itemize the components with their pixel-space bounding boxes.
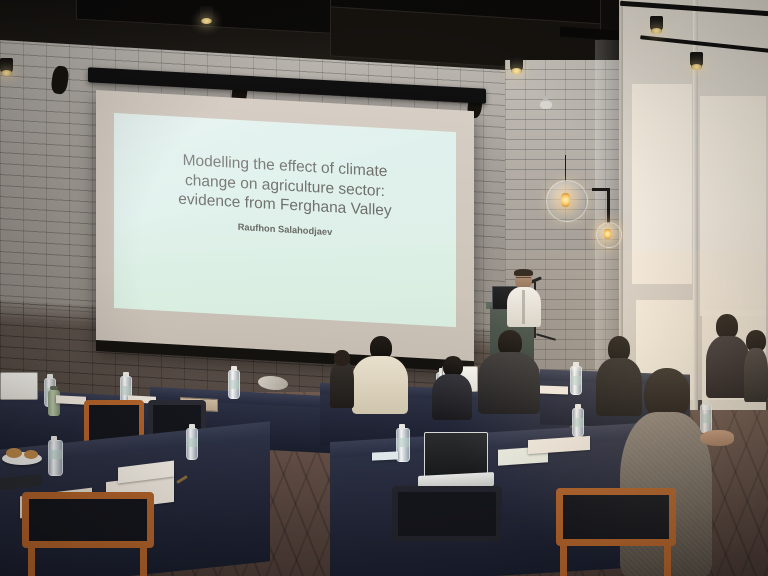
light-bulb-icon	[604, 229, 611, 239]
slide-author: Raufhon Salahodjaev	[238, 221, 333, 236]
attendee-dark-suit-front	[432, 356, 472, 418]
presenter-at-podium	[506, 270, 542, 324]
attendee-right-edge	[744, 330, 768, 400]
attendee-partial-left	[330, 352, 354, 408]
ceiling-spotlight-icon	[510, 56, 523, 71]
water-bottle	[228, 370, 240, 399]
water-bottle	[572, 408, 584, 437]
water-bottle	[186, 428, 198, 460]
ceiling-spotlight-icon	[650, 16, 663, 31]
chair[interactable]	[556, 488, 676, 576]
laptop-screen	[0, 372, 38, 400]
chair[interactable]	[22, 492, 154, 576]
lamp-arm	[607, 188, 610, 223]
presentation-slide: Modelling the effect of climate change o…	[114, 113, 456, 327]
paper-document	[540, 386, 568, 395]
paper-document	[372, 451, 398, 460]
chair[interactable]	[392, 486, 502, 576]
attendee-dark-suit-center	[478, 330, 540, 412]
water-bottle	[570, 366, 582, 395]
attendee-beige-jacket	[352, 336, 408, 412]
attendee-hand	[700, 430, 740, 460]
security-camera-icon	[540, 100, 552, 109]
light-bulb-icon	[561, 193, 570, 207]
pastry	[24, 450, 38, 459]
ceiling-spotlight-icon	[0, 58, 13, 73]
water-bottle	[396, 428, 410, 462]
paper-document	[56, 395, 86, 405]
pastry	[6, 448, 22, 458]
slide-title: Modelling the effect of climate change o…	[135, 148, 435, 223]
ceiling-spotlight-icon	[200, 6, 213, 21]
ceiling-spotlight-icon	[690, 52, 703, 67]
laptop-screen[interactable]	[424, 432, 488, 478]
projection-screen: Modelling the effect of climate change o…	[96, 90, 474, 369]
conference-room-photo: Modelling the effect of climate change o…	[0, 0, 768, 576]
lamp-cord	[565, 155, 566, 181]
water-bottle	[48, 440, 63, 476]
